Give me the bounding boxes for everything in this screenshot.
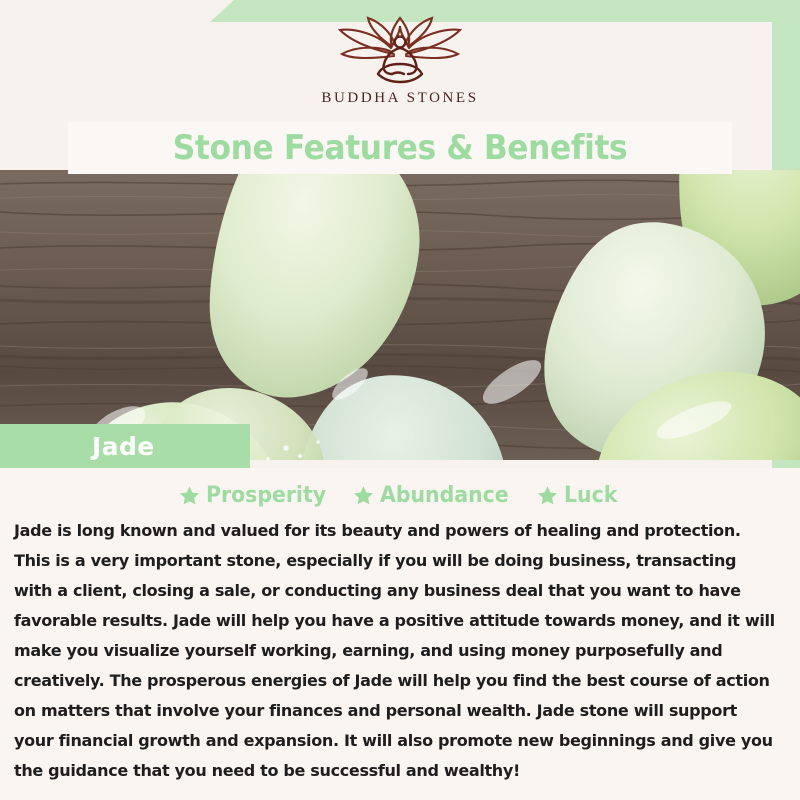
page-title: Stone Features & Benefits (173, 128, 628, 168)
benefits-list: Prosperity Abundance Luck (0, 476, 800, 514)
stone-description: Jade is long known and valued for its be… (14, 516, 776, 786)
benefit-item: Abundance (353, 483, 518, 508)
brand-header: BUDDHA STONES (0, 0, 800, 122)
benefit-item: Prosperity (179, 483, 335, 508)
benefit-label: Prosperity (206, 483, 326, 508)
stone-name-tag: Jade (0, 424, 250, 468)
star-icon (179, 485, 200, 506)
brand-name: BUDDHA STONES (321, 90, 478, 107)
stone-photo-illustration (0, 170, 800, 460)
content-panel: Prosperity Abundance Luck Jade is long k… (0, 468, 800, 800)
title-band: Stone Features & Benefits (68, 122, 732, 174)
star-icon (537, 485, 558, 506)
lotus-meditation-icon (334, 16, 466, 84)
stone-name: Jade (92, 432, 155, 461)
star-icon (353, 485, 374, 506)
benefit-label: Luck (564, 483, 617, 508)
benefit-label: Abundance (380, 483, 509, 508)
stone-photo (0, 170, 800, 460)
infographic-card: BUDDHA STONES Stone Features & Benefits … (0, 0, 800, 800)
benefit-item: Luck (537, 483, 621, 508)
